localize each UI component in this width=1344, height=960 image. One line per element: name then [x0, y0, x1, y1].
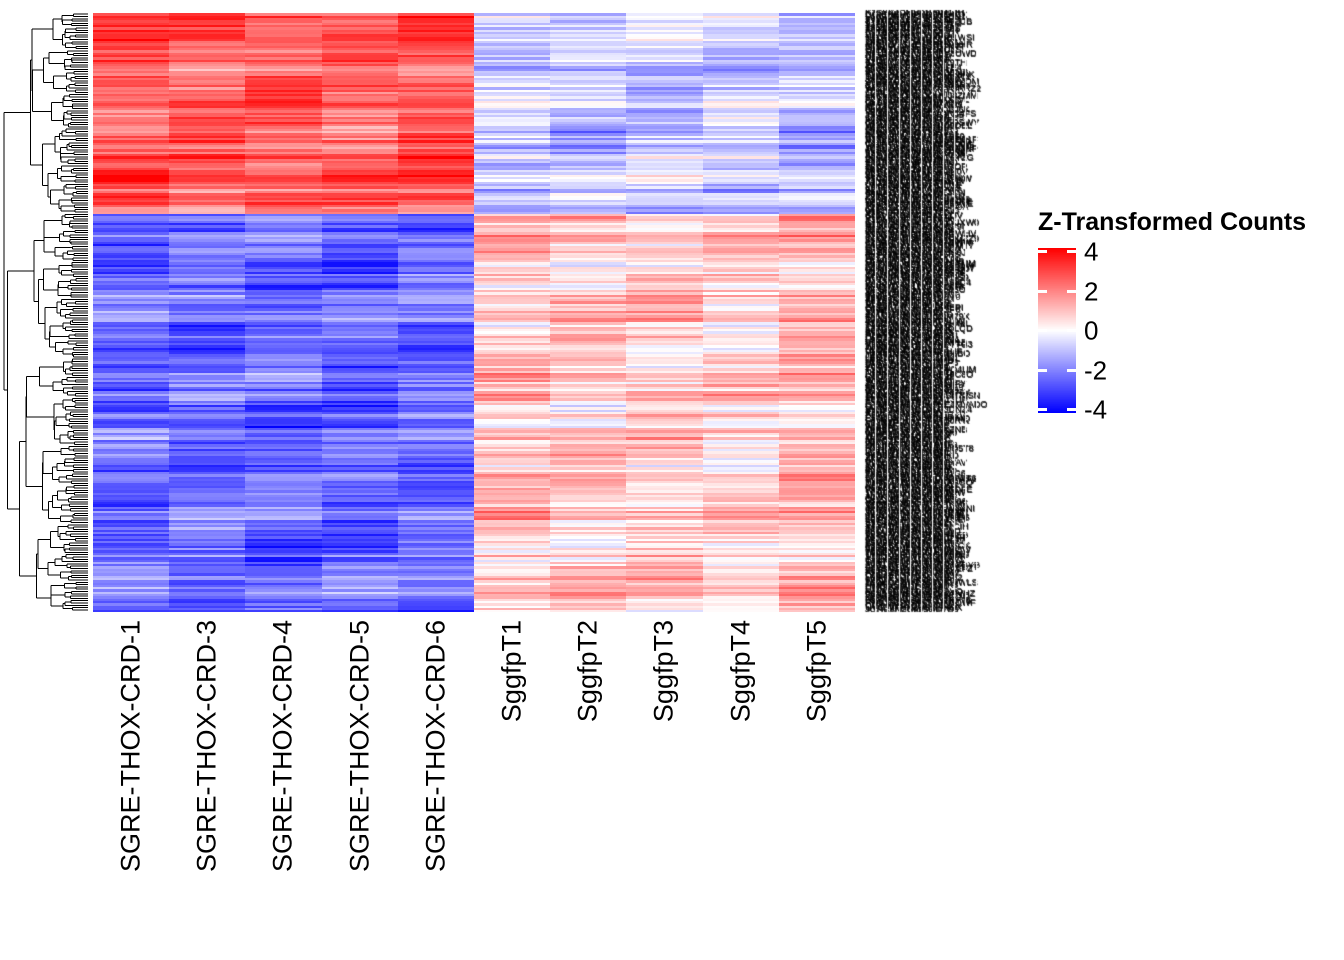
column-label-sgre-thox-crd-5: SGRE-THOX-CRD-5 — [344, 620, 375, 872]
row-dendrogram-svg — [0, 10, 90, 614]
column-label-sgre-thox-crd-6: SGRE-THOX-CRD-6 — [420, 620, 451, 872]
column-label-slot-6: SggfpT1 — [474, 614, 550, 934]
column-label-slot-5: SGRE-THOX-CRD-6 — [398, 614, 474, 934]
legend-tick-mark-4-left — [1038, 250, 1047, 253]
legend-tick-label-neg2: -2 — [1084, 356, 1107, 387]
row-axis-labels — [863, 8, 1015, 614]
legend-colorbar: 4 2 0 -2 -4 — [1038, 248, 1076, 413]
column-label-slot-2: SGRE-THOX-CRD-3 — [169, 614, 245, 934]
heatmap-figure: SGRE-THOX-CRD-1 SGRE-THOX-CRD-3 SGRE-THO… — [0, 0, 1344, 960]
legend-tick-mark-4-right — [1067, 250, 1076, 253]
legend-tick-label-2: 2 — [1084, 277, 1098, 308]
column-label-sggfpt5: SggfpT5 — [801, 620, 832, 722]
column-label-sgre-thox-crd-1: SGRE-THOX-CRD-1 — [116, 620, 147, 872]
legend-tick-mark-neg2-left — [1038, 369, 1047, 372]
legend-tick-label-0: 0 — [1084, 316, 1098, 347]
legend-tick-mark-0-right — [1067, 329, 1076, 332]
legend-tick-mark-2-right — [1067, 290, 1076, 293]
column-label-slot-1: SGRE-THOX-CRD-1 — [93, 614, 169, 934]
column-label-sggfpt4: SggfpT4 — [725, 620, 756, 722]
legend-title: Z-Transformed Counts — [1038, 208, 1306, 237]
column-label-slot-3: SGRE-THOX-CRD-4 — [245, 614, 321, 934]
column-label-slot-9: SggfpT4 — [703, 614, 779, 934]
column-label-sgre-thox-crd-4: SGRE-THOX-CRD-4 — [268, 620, 299, 872]
column-label-sgre-thox-crd-3: SGRE-THOX-CRD-3 — [192, 620, 223, 872]
heatmap-cells — [93, 13, 855, 612]
column-label-slot-10: SggfpT5 — [779, 614, 855, 934]
column-label-slot-8: SggfpT3 — [626, 614, 702, 934]
column-axis-labels: SGRE-THOX-CRD-1 SGRE-THOX-CRD-3 SGRE-THO… — [93, 614, 855, 934]
legend-tick-mark-2-left — [1038, 290, 1047, 293]
row-label-dense-block — [863, 8, 1015, 614]
column-label-sggfpt3: SggfpT3 — [649, 620, 680, 722]
legend-tick-mark-0-left — [1038, 329, 1047, 332]
column-label-slot-7: SggfpT2 — [550, 614, 626, 934]
column-label-slot-4: SGRE-THOX-CRD-5 — [322, 614, 398, 934]
legend-tick-label-4: 4 — [1084, 237, 1098, 268]
legend-tick-label-neg4: -4 — [1084, 395, 1107, 426]
legend-tick-mark-neg4-right — [1067, 408, 1076, 411]
column-label-sggfpt2: SggfpT2 — [573, 620, 604, 722]
legend-tick-mark-neg2-right — [1067, 369, 1076, 372]
heatmap-grid — [93, 13, 855, 612]
legend: Z-Transformed Counts 4 2 0 -2 -4 — [1038, 208, 1338, 423]
row-dendrogram — [0, 10, 90, 614]
legend-tick-mark-neg4-left — [1038, 408, 1047, 411]
column-label-sggfpt1: SggfpT1 — [497, 620, 528, 722]
